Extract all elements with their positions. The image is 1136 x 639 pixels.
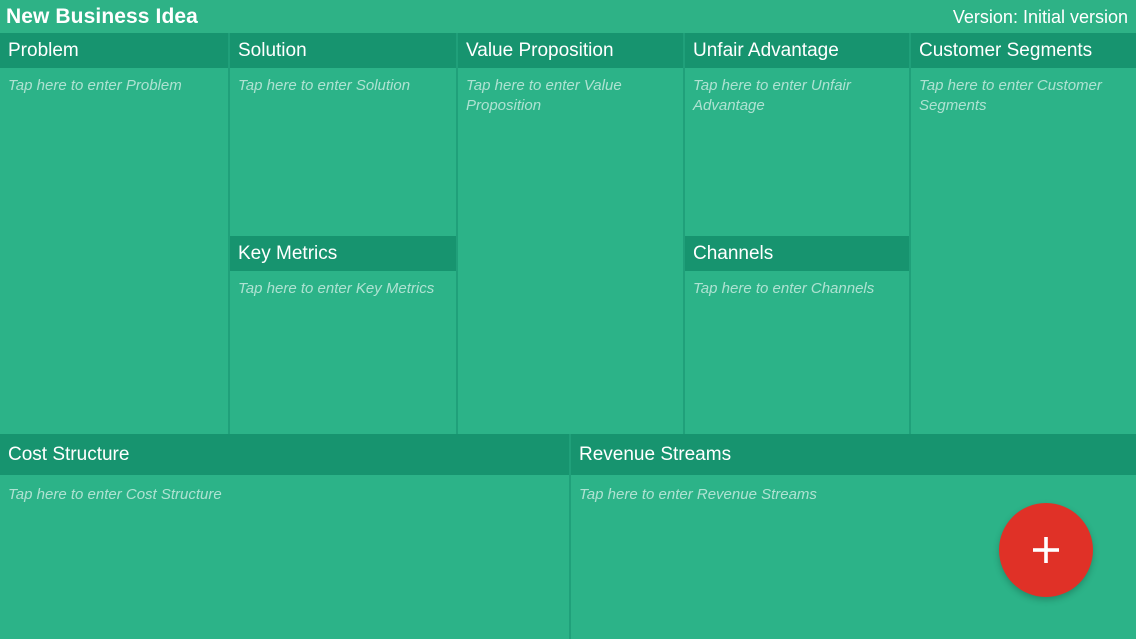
field-channels[interactable]: Tap here to enter Channels — [685, 271, 909, 434]
canvas-column-problem: Problem Tap here to enter Problem — [0, 33, 228, 434]
section-title-unfair-advantage: Unfair Advantage — [693, 41, 839, 60]
placeholder-cost-structure: Tap here to enter Cost Structure — [8, 485, 561, 505]
canvas-pane-solution: Solution Tap here to enter Solution — [230, 33, 456, 236]
canvas-column-solution: Solution Tap here to enter Solution Key … — [228, 33, 456, 434]
placeholder-channels: Tap here to enter Channels — [693, 279, 901, 299]
section-header-value-proposition: Value Proposition — [458, 33, 683, 68]
field-problem[interactable]: Tap here to enter Problem — [0, 68, 228, 434]
field-value-proposition[interactable]: Tap here to enter Value Proposition — [458, 68, 683, 434]
field-customer-segments[interactable]: Tap here to enter Customer Segments — [911, 68, 1136, 434]
canvas-pane-key-metrics: Key Metrics Tap here to enter Key Metric… — [230, 236, 456, 434]
canvas-pane-problem: Problem Tap here to enter Problem — [0, 33, 228, 434]
section-title-customer-segments: Customer Segments — [919, 41, 1092, 60]
section-header-customer-segments: Customer Segments — [911, 33, 1136, 68]
lean-canvas-screen: New Business Idea Version: Initial versi… — [0, 0, 1136, 639]
canvas-pane-customer-segments: Customer Segments Tap here to enter Cust… — [911, 33, 1136, 434]
section-title-cost-structure: Cost Structure — [8, 445, 129, 464]
section-title-solution: Solution — [238, 41, 307, 60]
placeholder-customer-segments: Tap here to enter Customer Segments — [919, 76, 1128, 116]
placeholder-value-proposition: Tap here to enter Value Proposition — [466, 76, 675, 116]
field-unfair-advantage[interactable]: Tap here to enter Unfair Advantage — [685, 68, 909, 236]
field-key-metrics[interactable]: Tap here to enter Key Metrics — [230, 271, 456, 434]
version-label[interactable]: Version: Initial version — [953, 8, 1130, 26]
page-title: New Business Idea — [6, 6, 198, 27]
section-header-channels: Channels — [685, 236, 909, 271]
canvas-pane-channels: Channels Tap here to enter Channels — [685, 236, 909, 434]
section-header-key-metrics: Key Metrics — [230, 236, 456, 271]
canvas-column-value-proposition: Value Proposition Tap here to enter Valu… — [456, 33, 683, 434]
section-title-problem: Problem — [8, 41, 79, 60]
canvas-pane-unfair-advantage: Unfair Advantage Tap here to enter Unfai… — [685, 33, 909, 236]
section-title-channels: Channels — [693, 244, 773, 263]
canvas-column-cost-structure: Cost Structure Tap here to enter Cost St… — [0, 434, 569, 639]
section-title-revenue-streams: Revenue Streams — [579, 445, 731, 464]
canvas-bottom-grid: Cost Structure Tap here to enter Cost St… — [0, 434, 1136, 639]
placeholder-problem: Tap here to enter Problem — [8, 76, 220, 96]
app-title-bar: New Business Idea Version: Initial versi… — [0, 0, 1136, 33]
canvas-top-grid: Problem Tap here to enter Problem Soluti… — [0, 33, 1136, 434]
canvas-column-unfair-advantage: Unfair Advantage Tap here to enter Unfai… — [683, 33, 909, 434]
section-title-value-proposition: Value Proposition — [466, 41, 614, 60]
field-solution[interactable]: Tap here to enter Solution — [230, 68, 456, 236]
section-header-solution: Solution — [230, 33, 456, 68]
canvas-column-customer-segments: Customer Segments Tap here to enter Cust… — [909, 33, 1136, 434]
placeholder-key-metrics: Tap here to enter Key Metrics — [238, 279, 448, 299]
section-header-unfair-advantage: Unfair Advantage — [685, 33, 909, 68]
placeholder-unfair-advantage: Tap here to enter Unfair Advantage — [693, 76, 901, 116]
field-cost-structure[interactable]: Tap here to enter Cost Structure — [0, 475, 569, 639]
canvas-pane-value-proposition: Value Proposition Tap here to enter Valu… — [458, 33, 683, 434]
section-title-key-metrics: Key Metrics — [238, 244, 337, 263]
section-header-revenue-streams: Revenue Streams — [571, 434, 1136, 475]
section-header-cost-structure: Cost Structure — [0, 434, 569, 475]
placeholder-solution: Tap here to enter Solution — [238, 76, 448, 96]
section-header-problem: Problem — [0, 33, 228, 68]
placeholder-revenue-streams: Tap here to enter Revenue Streams — [579, 485, 1128, 505]
add-button[interactable] — [999, 503, 1093, 597]
plus-icon — [1029, 533, 1063, 567]
